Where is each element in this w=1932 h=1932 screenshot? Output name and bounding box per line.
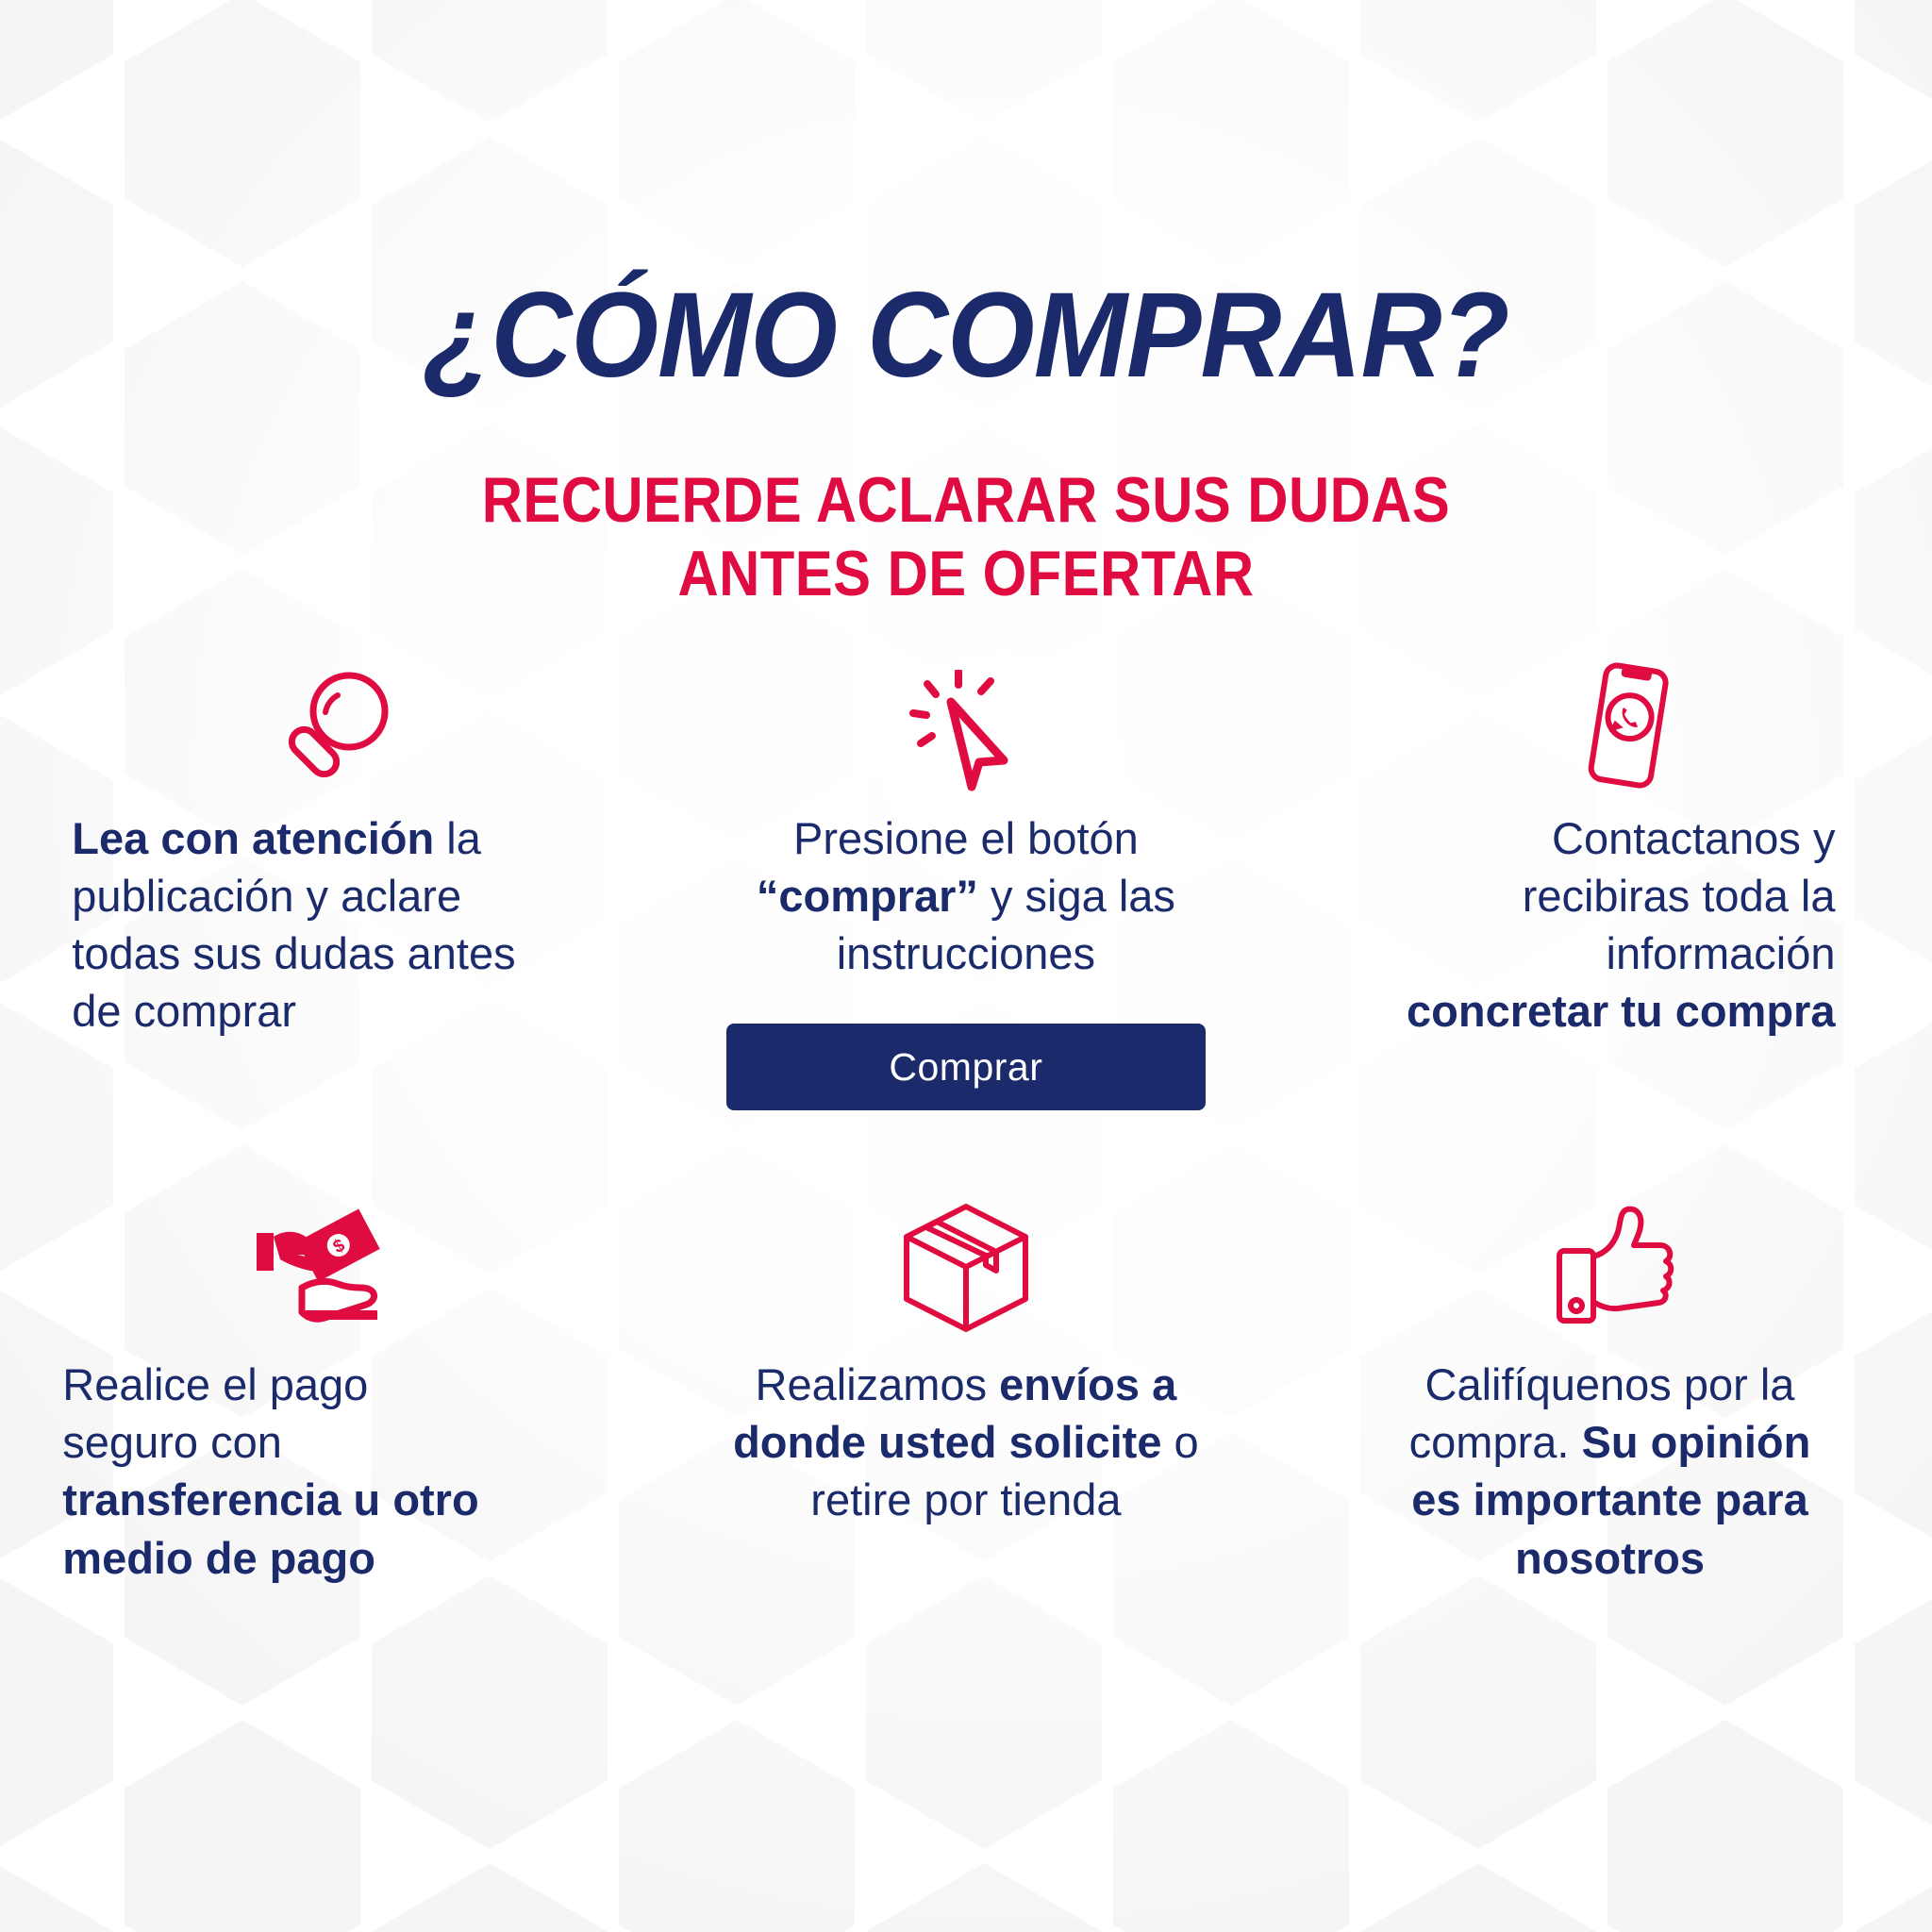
page-subtitle: RECUERDE ACLARAR SUS DUDAS ANTES DE OFER…	[116, 464, 1816, 610]
infographic-canvas: ¿CÓMO COMPRAR? RECUERDE ACLARAR SUS DUDA…	[0, 0, 1932, 1932]
step-card-shipping: Realizamos envíos a donde usted solicite…	[644, 1178, 1289, 1586]
comprar-button[interactable]: Comprar	[726, 1024, 1206, 1110]
step-card-rating: Califíquenos por la compra. Su opinión e…	[1288, 1178, 1932, 1586]
package-box-icon	[895, 1178, 1037, 1339]
step-text: Realizamos envíos a donde usted solicite…	[730, 1356, 1202, 1528]
step-card-contact: Contactanos y recibiras toda la informac…	[1288, 651, 1932, 1110]
step-text: Presione el botón “comprar” y siga las i…	[725, 809, 1207, 982]
step-card-payment: $ Realice el pago seguro con transferenc…	[0, 1178, 644, 1586]
steps-grid: Lea con atención la publicación y aclare…	[0, 651, 1932, 1587]
click-cursor-icon	[909, 651, 1023, 792]
money-hand-icon: $	[251, 1178, 402, 1339]
magnifier-icon	[279, 651, 392, 792]
steps-row-2: $ Realice el pago seguro con transferenc…	[0, 1178, 1932, 1586]
step-text: Realice el pago seguro con transferencia…	[62, 1356, 506, 1586]
step-card-read: Lea con atención la publicación y aclare…	[0, 651, 644, 1110]
step-text: Contactanos y recibiras toda la informac…	[1391, 809, 1835, 1040]
step-card-press-buy: Presione el botón “comprar” y siga las i…	[644, 651, 1289, 1110]
thumbs-up-icon	[1548, 1178, 1680, 1339]
steps-row-1: Lea con atención la publicación y aclare…	[0, 651, 1932, 1110]
page-title: ¿CÓMO COMPRAR?	[68, 275, 1865, 396]
step-text: Califíquenos por la compra. Su opinión e…	[1388, 1356, 1831, 1586]
whatsapp-phone-icon	[1572, 651, 1685, 792]
step-text: Lea con atención la publicación y aclare…	[72, 809, 562, 1040]
